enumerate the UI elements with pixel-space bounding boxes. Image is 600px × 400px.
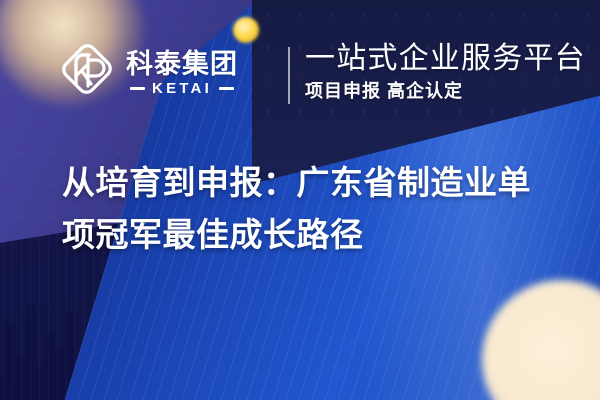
slogan-sub-text: 项目申报 高企认定 bbox=[305, 80, 586, 103]
vertical-divider bbox=[288, 47, 290, 104]
dash-right-icon bbox=[219, 87, 234, 90]
banner-content: 科泰集团 KETAI 一站式企业服务平台 项目申报 高企认定 从培育到申报：广东… bbox=[0, 0, 600, 400]
brand-name-en: KETAI bbox=[152, 81, 212, 96]
brand-logo[interactable]: 科泰集团 KETAI bbox=[58, 44, 238, 102]
brand-name-en-row: KETAI bbox=[130, 81, 234, 96]
ketai-diamond-monogram-icon bbox=[58, 44, 114, 102]
page-title: 从培育到申报：广东省制造业单项冠军最佳成长路径 bbox=[62, 157, 562, 261]
slogan-block: 一站式企业服务平台 项目申报 高企认定 bbox=[305, 41, 586, 104]
slogan-main-text: 一站式企业服务平台 bbox=[305, 41, 586, 76]
promo-banner: 科泰集团 KETAI 一站式企业服务平台 项目申报 高企认定 从培育到申报：广东… bbox=[0, 0, 600, 400]
dash-left-icon bbox=[130, 87, 145, 90]
brand-wordmark: 科泰集团 KETAI bbox=[126, 50, 238, 96]
brand-name-cn: 科泰集团 bbox=[126, 50, 238, 78]
